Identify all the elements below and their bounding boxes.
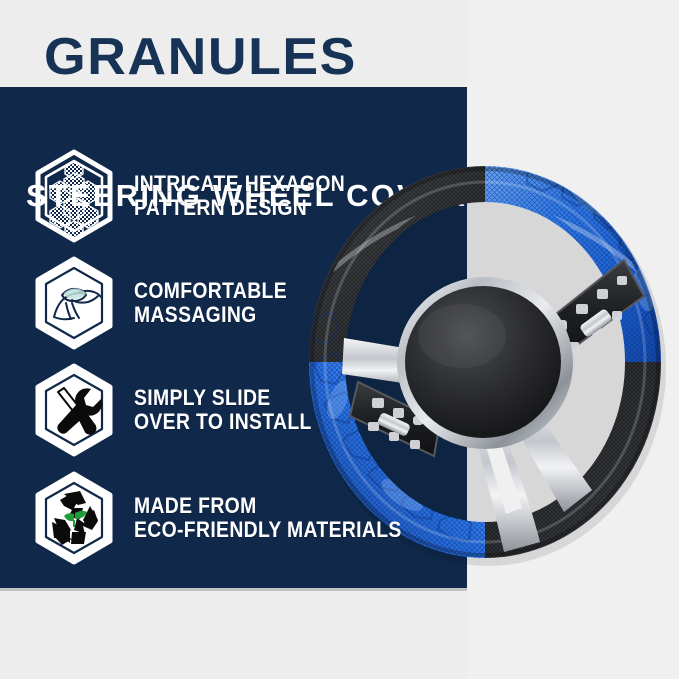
brand-title: GRANULES xyxy=(44,31,357,83)
feature-line-1: INTRICATE HEXAGON xyxy=(134,172,345,196)
infographic-canvas: GRANULES STEERING WHEEL COVER xyxy=(0,0,679,679)
hexagon-pattern-icon xyxy=(28,148,120,244)
massaging-hand-icon xyxy=(28,255,120,351)
feature-line-1: MADE FROM xyxy=(134,494,402,518)
feature-line-2: PATTERN DESIGN xyxy=(134,196,345,220)
recycle-leaf-icon xyxy=(28,470,120,566)
feature-label: INTRICATE HEXAGON PATTERN DESIGN xyxy=(134,172,345,220)
feature-line-2: ECO-FRIENDLY MATERIALS xyxy=(134,518,402,542)
feature-line-2: MASSAGING xyxy=(134,303,287,327)
feature-line-1: COMFORTABLE xyxy=(134,279,287,303)
feature-item-eco-friendly: MADE FROM ECO-FRIENDLY MATERIALS xyxy=(28,470,448,566)
feature-item-comfortable-massaging: COMFORTABLE MASSAGING xyxy=(28,255,448,351)
feature-item-simply-slide: SIMPLY SLIDE OVER TO INSTALL xyxy=(28,362,448,458)
feature-line-1: SIMPLY SLIDE xyxy=(134,386,312,410)
feature-label: SIMPLY SLIDE OVER TO INSTALL xyxy=(134,386,312,434)
feature-label: COMFORTABLE MASSAGING xyxy=(134,279,287,327)
feature-line-2: OVER TO INSTALL xyxy=(134,410,312,434)
tools-wrench-screwdriver-icon xyxy=(28,362,120,458)
feature-label: MADE FROM ECO-FRIENDLY MATERIALS xyxy=(134,494,402,542)
feature-item-hexagon-pattern: INTRICATE HEXAGON PATTERN DESIGN xyxy=(28,148,448,244)
